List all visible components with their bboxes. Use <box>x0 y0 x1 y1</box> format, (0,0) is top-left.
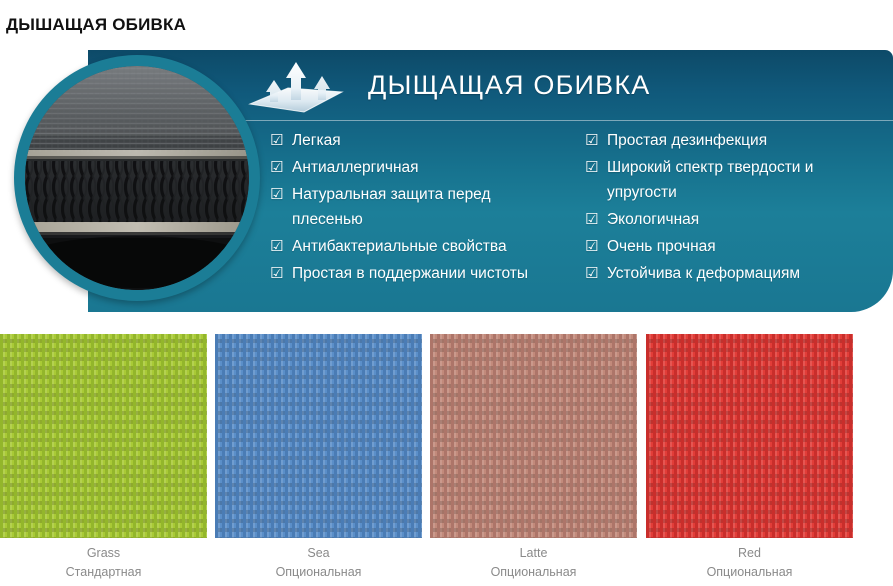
swatch-item[interactable]: Red Опциональная <box>646 334 853 538</box>
swatch-caption: Sea Опциональная <box>215 544 422 582</box>
feature-label: Антибактериальные свойства <box>292 238 507 255</box>
checkbox-checked-icon: ☑ <box>585 128 598 153</box>
swatch-color-latte[interactable] <box>430 334 637 538</box>
checkbox-checked-icon: ☑ <box>270 261 283 286</box>
checkbox-checked-icon: ☑ <box>270 182 283 207</box>
swatch-item[interactable]: Grass Стандартная <box>0 334 207 538</box>
swatch-item[interactable]: Sea Опциональная <box>215 334 422 538</box>
feature-item: ☑ Натуральная защита перед плесенью <box>270 182 560 232</box>
swatch-caption: Latte Опциональная <box>430 544 637 582</box>
swatch-color-grass[interactable] <box>0 334 207 538</box>
feature-item: ☑ Очень прочная <box>585 234 885 259</box>
fabric-texture <box>0 334 207 538</box>
fabric-texture <box>215 334 422 538</box>
swatch-availability: Стандартная <box>0 563 207 582</box>
checkbox-checked-icon: ☑ <box>585 234 598 259</box>
breathable-fabric-closeup-photo <box>14 55 260 301</box>
checkbox-checked-icon: ☑ <box>585 155 598 180</box>
swatch-name: Red <box>646 544 853 563</box>
photo-inner <box>25 66 249 290</box>
color-swatch-row: Grass Стандартная Sea Опциональная Latte… <box>0 334 893 538</box>
feature-item: ☑ Простая в поддержании чистоты <box>270 261 560 286</box>
feature-item: ☑ Устойчива к деформациям <box>585 261 885 286</box>
feature-label: Антиаллергичная <box>292 159 419 176</box>
swatch-name: Grass <box>0 544 207 563</box>
swatch-color-sea[interactable] <box>215 334 422 538</box>
feature-column-right: ☑ Простая дезинфекция ☑ Широкий спектр т… <box>585 128 885 288</box>
feature-item: ☑ Простая дезинфекция <box>585 128 885 153</box>
swatch-availability: Опциональная <box>430 563 637 582</box>
swatch-caption: Red Опциональная <box>646 544 853 582</box>
feature-label: Устойчива к деформациям <box>607 265 800 282</box>
banner-title: ДЫЩАЩАЯ ОБИВКА <box>368 68 651 102</box>
fabric-texture <box>646 334 853 538</box>
fabric-texture <box>430 334 637 538</box>
swatch-name: Latte <box>430 544 637 563</box>
swatch-availability: Опциональная <box>646 563 853 582</box>
feature-item: ☑ Антиаллергичная <box>270 155 560 180</box>
checkbox-checked-icon: ☑ <box>270 128 283 153</box>
feature-label: Широкий спектр твердости и упругости <box>607 159 813 201</box>
feature-item: ☑ Широкий спектр твердости и упругости <box>585 155 885 205</box>
feature-column-left: ☑ Легкая ☑ Антиаллергичная ☑ Натуральная… <box>270 128 560 288</box>
swatch-item[interactable]: Latte Опциональная <box>430 334 637 538</box>
feature-label: Натуральная защита перед плесенью <box>292 186 491 228</box>
feature-label: Простая дезинфекция <box>607 132 767 149</box>
page-title: ДЫШАЩАЯ ОБИВКА <box>6 14 186 36</box>
breathability-arrows-icon <box>248 58 344 116</box>
feature-label: Очень прочная <box>607 238 716 255</box>
swatch-caption: Grass Стандартная <box>0 544 207 582</box>
feature-item: ☑ Антибактериальные свойства <box>270 234 560 259</box>
swatch-availability: Опциональная <box>215 563 422 582</box>
checkbox-checked-icon: ☑ <box>585 261 598 286</box>
checkbox-checked-icon: ☑ <box>585 207 598 232</box>
feature-label: Простая в поддержании чистоты <box>292 265 528 282</box>
checkbox-checked-icon: ☑ <box>270 234 283 259</box>
swatch-color-red[interactable] <box>646 334 853 538</box>
swatch-name: Sea <box>215 544 422 563</box>
feature-item: ☑ Экологичная <box>585 207 885 232</box>
checkbox-checked-icon: ☑ <box>270 155 283 180</box>
feature-label: Легкая <box>292 132 341 149</box>
feature-item: ☑ Легкая <box>270 128 560 153</box>
feature-label: Экологичная <box>607 211 699 228</box>
